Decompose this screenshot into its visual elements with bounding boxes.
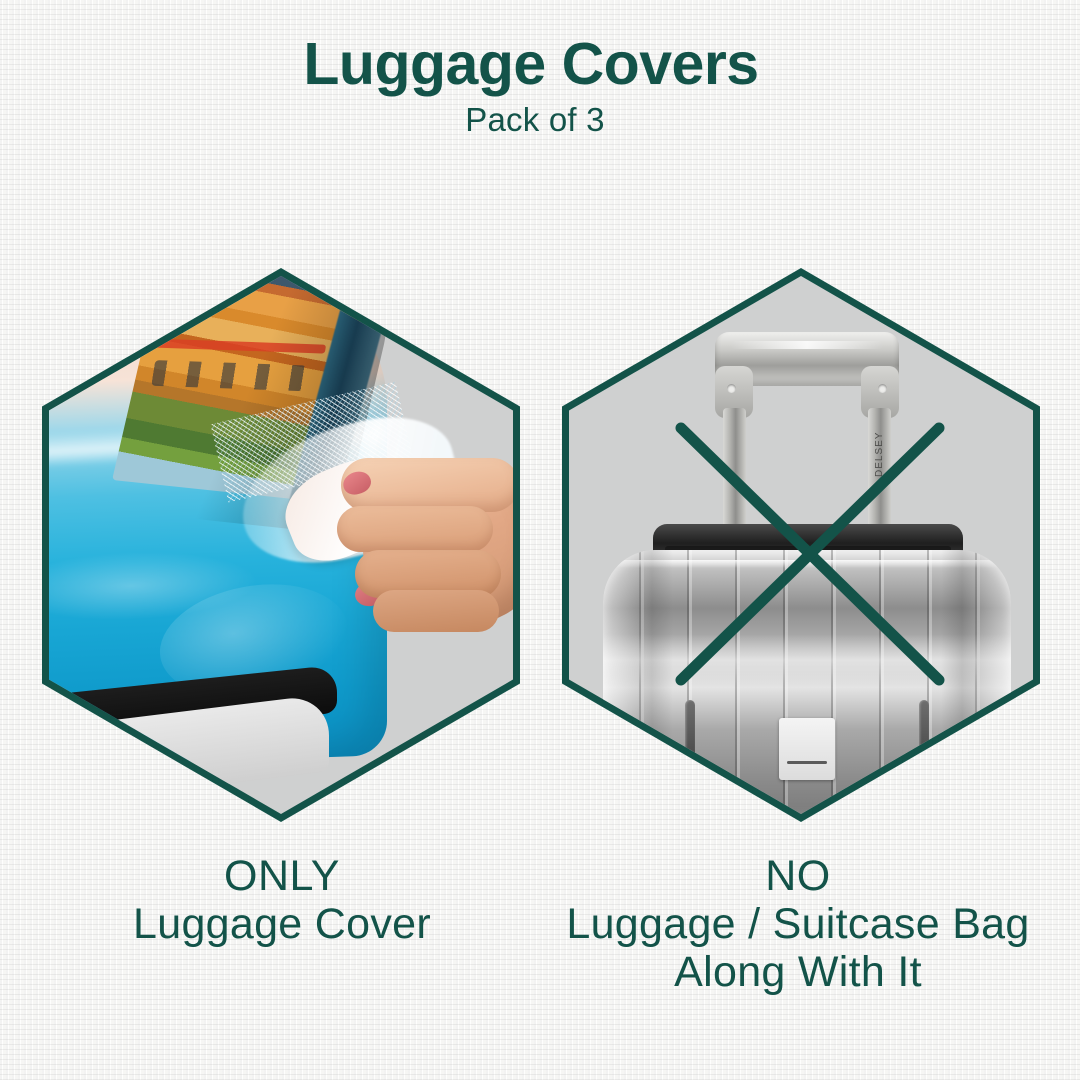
hand-finger-index — [341, 458, 513, 512]
page-subtitle: Pack of 3 — [0, 101, 1080, 139]
hexagon-frame-excluded: DELSEY — [562, 268, 1040, 822]
hexagon-image-suitcase: DELSEY — [569, 276, 1033, 814]
caption-included: ONLY Luggage Cover — [32, 852, 532, 948]
hand-pulling-cover — [331, 454, 513, 654]
panel-included — [42, 268, 520, 822]
hexagon-frame-included — [42, 268, 520, 822]
caption-line3-excluded: Along With It — [548, 948, 1048, 996]
caption-excluded: NO Luggage / Suitcase Bag Along With It — [548, 852, 1048, 996]
hand-finger-middle — [337, 506, 493, 552]
caption-lead-excluded: NO — [548, 852, 1048, 900]
header: Luggage Covers Pack of 3 — [0, 34, 1080, 139]
infographic-canvas: Luggage Covers Pack of 3 — [0, 0, 1080, 1080]
caption-lead-included: ONLY — [32, 852, 532, 900]
caption-line2-excluded: Luggage / Suitcase Bag — [548, 900, 1048, 948]
cross-out-icon — [569, 276, 1033, 814]
fingernail-icon — [340, 468, 373, 498]
hexagon-image-luggage-cover — [49, 276, 513, 814]
panel-excluded: DELSEY — [562, 268, 1040, 822]
caption-line2-included: Luggage Cover — [32, 900, 532, 948]
page-title: Luggage Covers — [0, 34, 1080, 94]
hand-finger-pinky — [373, 590, 499, 632]
